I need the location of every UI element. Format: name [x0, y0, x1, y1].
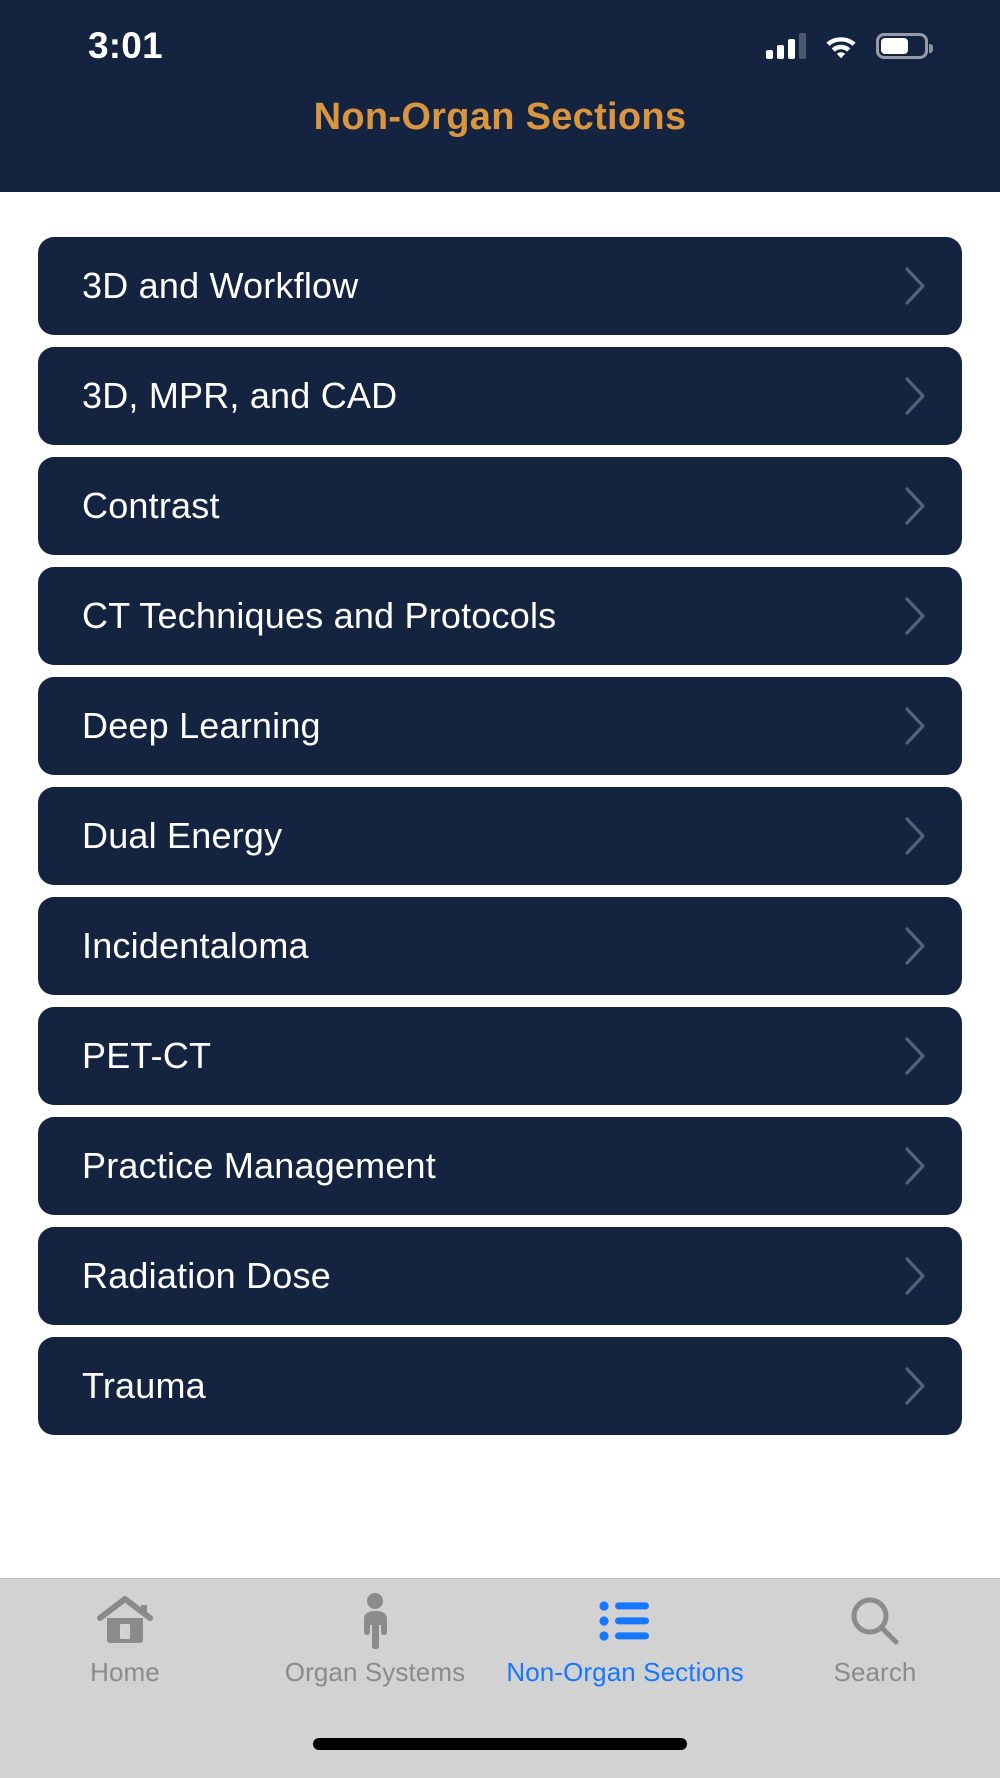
list-item[interactable]: CT Techniques and Protocols [38, 567, 962, 665]
wifi-icon [824, 33, 858, 59]
battery-icon [876, 33, 928, 59]
status-time: 3:01 [88, 23, 163, 64]
chevron-right-icon [902, 926, 928, 966]
tab-bar-items: HomeOrgan SystemsNon-Organ SectionsSearc… [0, 1579, 1000, 1714]
cellular-signal-icon [766, 33, 806, 59]
list-item[interactable]: Contrast [38, 457, 962, 555]
home-icon [97, 1593, 153, 1649]
list-item-label: Practice Management [82, 1145, 902, 1187]
list-item[interactable]: Practice Management [38, 1117, 962, 1215]
list-item-label: CT Techniques and Protocols [82, 595, 902, 637]
chevron-right-icon [902, 1366, 928, 1406]
list-item-label: Radiation Dose [82, 1255, 902, 1297]
chevron-right-icon [902, 1146, 928, 1186]
tab-bar: HomeOrgan SystemsNon-Organ SectionsSearc… [0, 1578, 1000, 1778]
battery-fill [881, 38, 908, 54]
tab-label: Non-Organ Sections [506, 1657, 743, 1688]
list-item-label: 3D and Workflow [82, 265, 902, 307]
chevron-right-icon [902, 266, 928, 306]
tab-search[interactable]: Search [750, 1593, 1000, 1714]
search-icon [849, 1593, 901, 1649]
chevron-right-icon [902, 1036, 928, 1076]
page-title: Non-Organ Sections [0, 96, 1000, 139]
chevron-right-icon [902, 376, 928, 416]
tab-label: Home [90, 1657, 160, 1688]
list-item[interactable]: Incidentaloma [38, 897, 962, 995]
person-icon [353, 1593, 397, 1649]
chevron-right-icon [902, 596, 928, 636]
status-bar: 3:01 [0, 0, 1000, 86]
tab-organ-systems[interactable]: Organ Systems [250, 1593, 500, 1714]
list-item[interactable]: PET-CT [38, 1007, 962, 1105]
list-item-label: 3D, MPR, and CAD [82, 375, 902, 417]
list-item-label: Dual Energy [82, 815, 902, 857]
chevron-right-icon [902, 816, 928, 856]
list-item[interactable]: Radiation Dose [38, 1227, 962, 1325]
home-indicator [313, 1738, 687, 1750]
bulleted-list-icon [599, 1593, 651, 1649]
list-item-label: Deep Learning [82, 705, 902, 747]
chevron-right-icon [902, 706, 928, 746]
tab-non-organ-sections[interactable]: Non-Organ Sections [500, 1593, 750, 1714]
list-item[interactable]: 3D, MPR, and CAD [38, 347, 962, 445]
chevron-right-icon [902, 1256, 928, 1296]
status-icons [766, 27, 928, 59]
section-list: 3D and Workflow3D, MPR, and CADContrastC… [0, 192, 1000, 1435]
list-item-label: PET-CT [82, 1035, 902, 1077]
list-item-label: Trauma [82, 1365, 902, 1407]
list-item[interactable]: Deep Learning [38, 677, 962, 775]
chevron-right-icon [902, 486, 928, 526]
tab-label: Organ Systems [285, 1657, 465, 1688]
tab-label: Search [834, 1657, 917, 1688]
list-item[interactable]: Trauma [38, 1337, 962, 1435]
tab-home[interactable]: Home [0, 1593, 250, 1714]
list-item-label: Contrast [82, 485, 902, 527]
content-area: 3D and Workflow3D, MPR, and CADContrastC… [0, 192, 1000, 1578]
app-header: 3:01 Non-Organ Sections [0, 0, 1000, 192]
list-item[interactable]: 3D and Workflow [38, 237, 962, 335]
list-item-label: Incidentaloma [82, 925, 902, 967]
list-item[interactable]: Dual Energy [38, 787, 962, 885]
